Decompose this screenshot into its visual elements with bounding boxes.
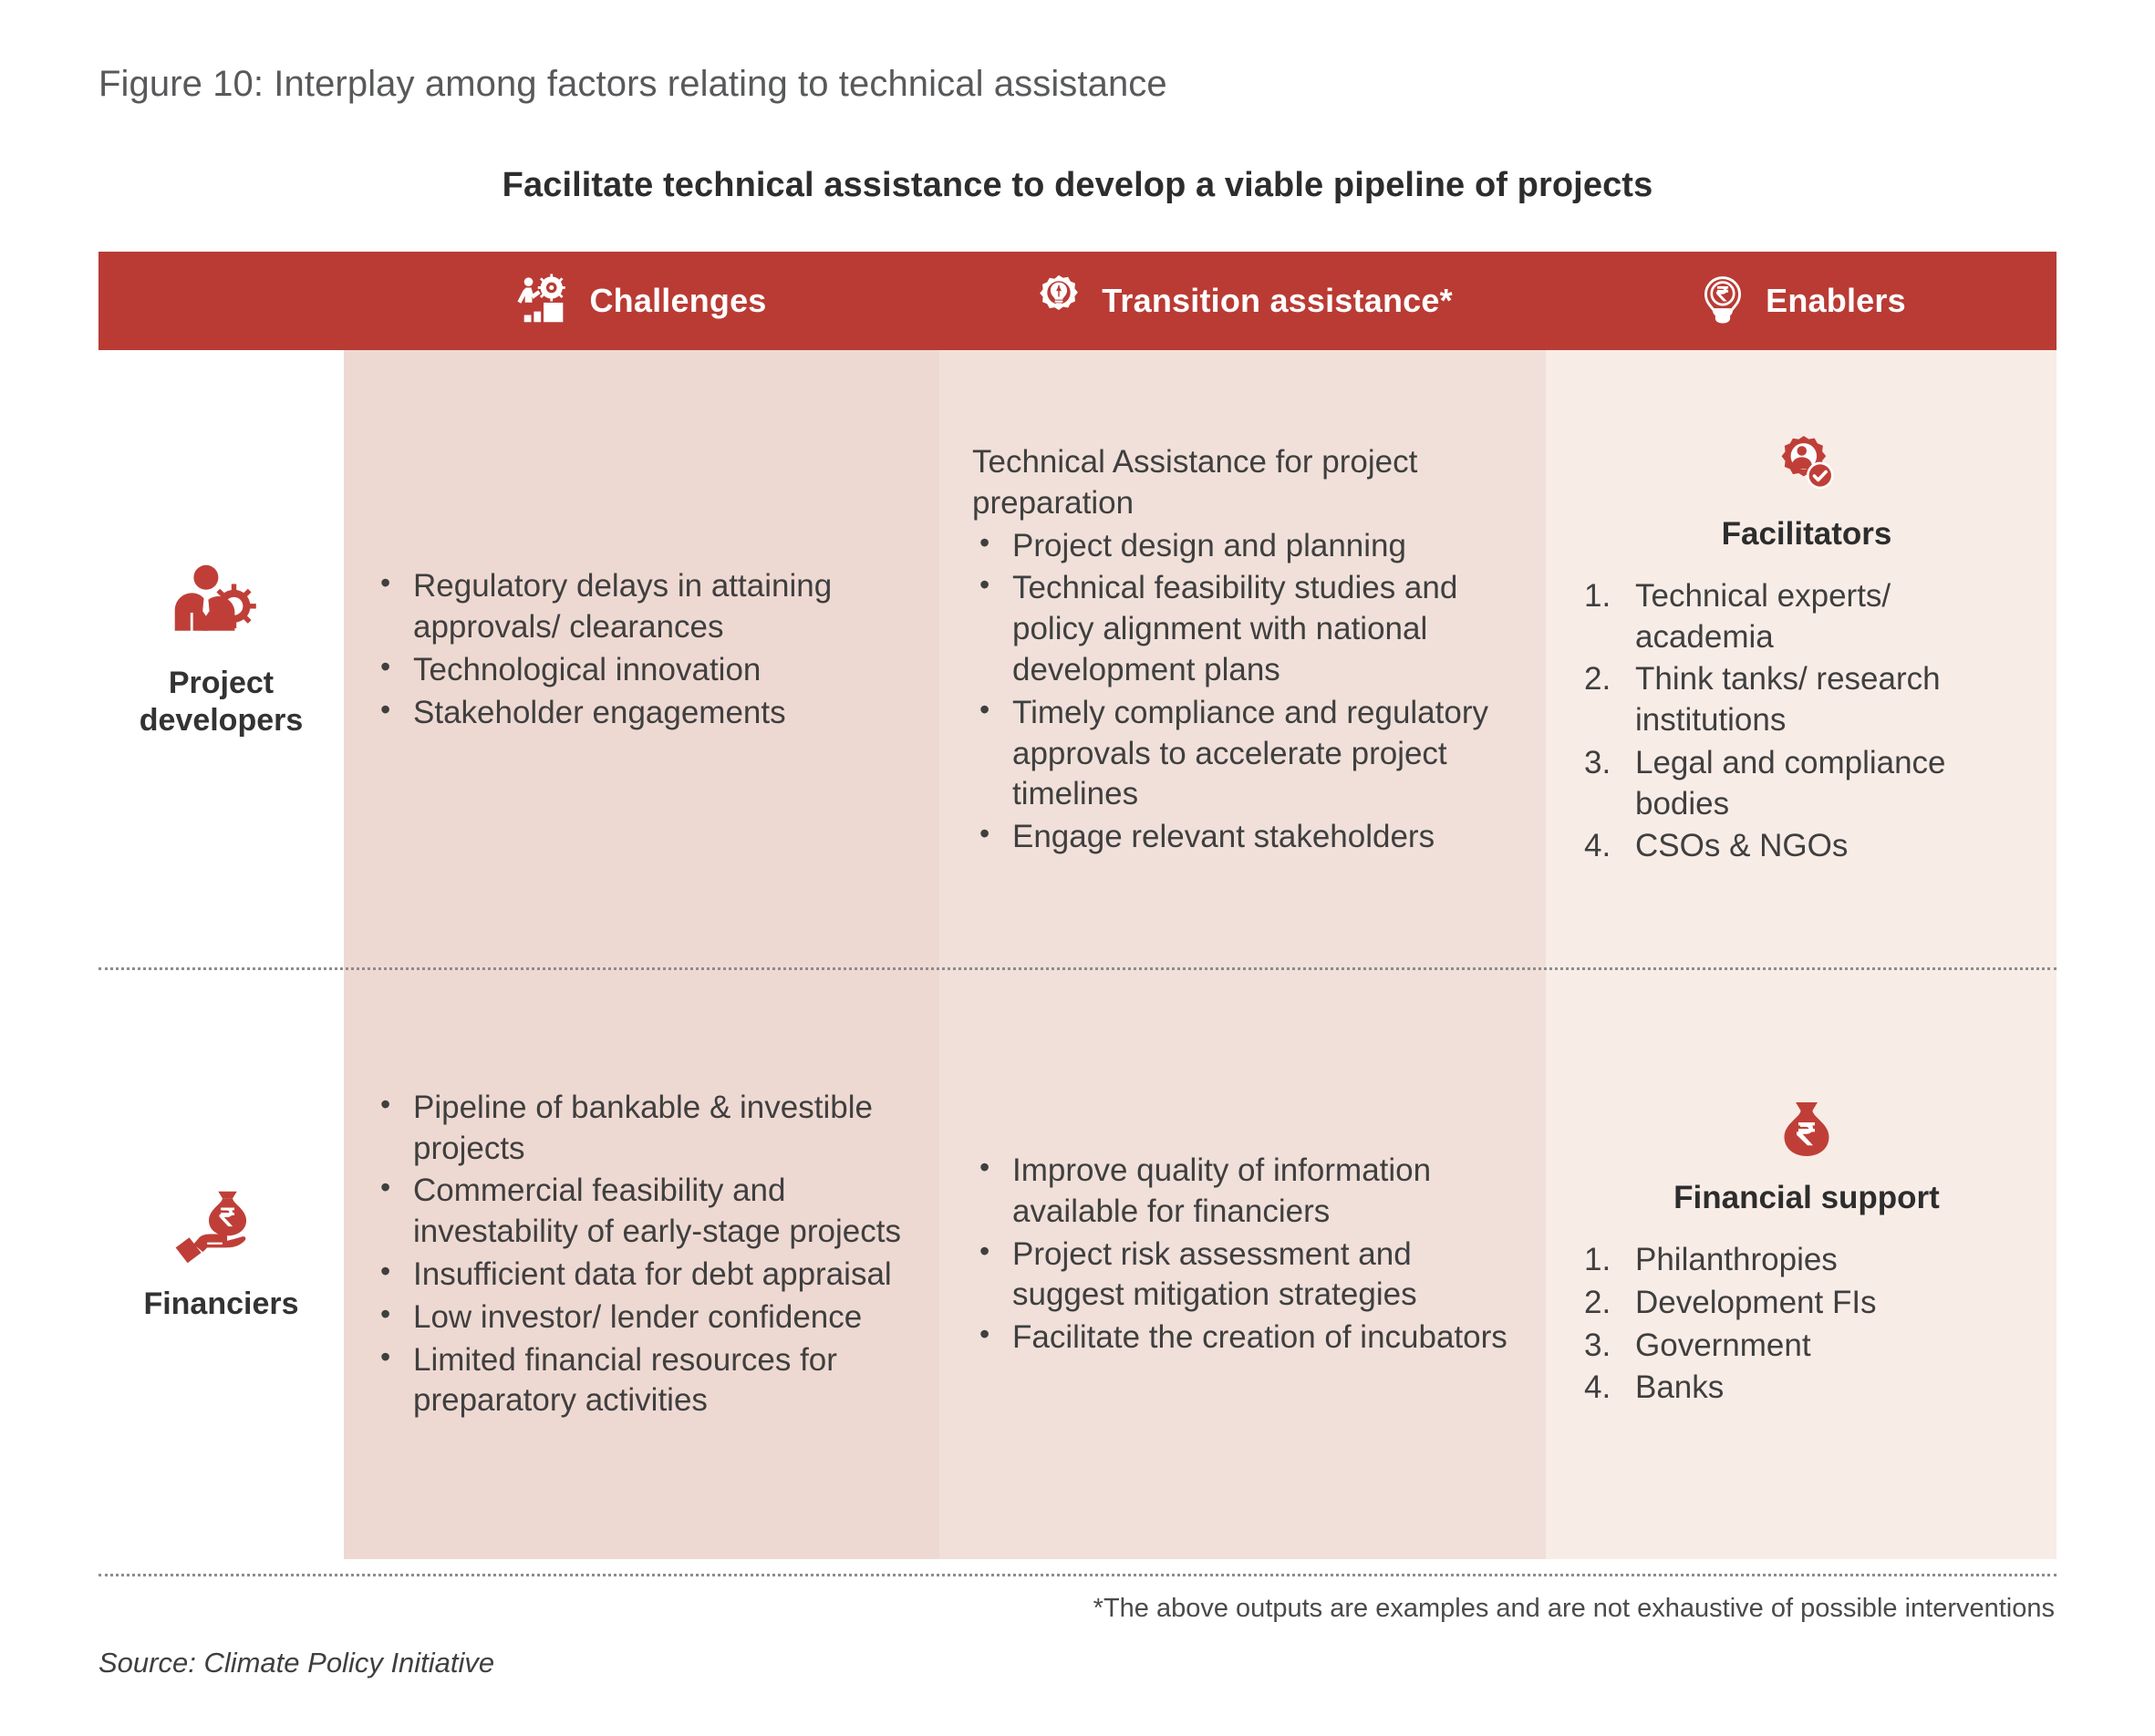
gear-lightbulb-icon [1032, 274, 1085, 327]
gear-person-check-icon [1584, 433, 2029, 507]
list-item: Regulatory delays in attaining approvals… [373, 566, 912, 648]
footnote: *The above outputs are examples and are … [1093, 1594, 2055, 1624]
cell-challenges-project-developers: Regulatory delays in attaining approvals… [344, 350, 939, 952]
bottom-divider [98, 1574, 2057, 1576]
list-item: Facilitate the creation of incubators [972, 1317, 1509, 1359]
list-item: Insufficient data for debt appraisal [373, 1255, 912, 1296]
list-item: Technical experts/ academia [1584, 576, 2029, 658]
row-label-text: Projectdevelopers [140, 665, 304, 738]
row-divider [98, 967, 2057, 970]
row-label-project-developers: Projectdevelopers [98, 350, 344, 952]
list-item: Think tanks/ research institutions [1584, 659, 2029, 741]
row-label-financiers: Financiers [98, 952, 344, 1559]
enabler-heading-financial-support: Financial support [1584, 1100, 2029, 1216]
money-bag-rupee-icon [1584, 1100, 2029, 1171]
cell-enablers-financiers: Financial support Philanthropies Develop… [1546, 952, 2057, 1559]
header-cell-challenges: Challenges [344, 252, 939, 350]
header-label-enablers: Enablers [1766, 282, 1906, 320]
row-label-text: Financiers [143, 1286, 298, 1322]
cell-transition-project-developers: Technical Assistance for project prepara… [939, 350, 1546, 952]
header-label-challenges: Challenges [589, 282, 766, 320]
challenges-list: Regulatory delays in attaining approvals… [373, 566, 912, 735]
enabler-title: Facilitators [1584, 516, 2029, 553]
list-item: Technical feasibility studies and policy… [972, 568, 1509, 690]
cell-challenges-financiers: Pipeline of bankable & investible projec… [344, 952, 939, 1559]
list-item: Low investor/ lender confidence [373, 1297, 912, 1338]
list-item: Development FIs [1584, 1283, 2029, 1324]
row-label-line2: developers [140, 703, 304, 738]
lightbulb-rupee-icon [1696, 274, 1749, 327]
list-item: Government [1584, 1326, 2029, 1367]
figure-caption: Figure 10: Interplay among factors relat… [98, 64, 1167, 105]
header-cell-transition-assistance: Transition assistance* [939, 252, 1546, 350]
matrix-body: Projectdevelopers Regulatory delays in a… [98, 350, 2057, 1559]
challenges-list: Pipeline of bankable & investible projec… [373, 1088, 912, 1423]
cell-transition-financiers: Improve quality of information available… [939, 952, 1546, 1559]
list-item: Engage relevant stakeholders [972, 817, 1509, 858]
list-item: Limited financial resources for preparat… [373, 1340, 912, 1422]
transition-list: Improve quality of information available… [972, 1151, 1509, 1360]
list-item: CSOs & NGOs [1584, 826, 2029, 867]
list-item: Timely compliance and regulatory approva… [972, 693, 1509, 815]
list-item: Banks [1584, 1368, 2029, 1409]
interplay-matrix: Challenges [98, 252, 2057, 1559]
hand-money-bag-rupee-icon [171, 1188, 273, 1271]
enablers-list: Philanthropies Development FIs Governmen… [1584, 1240, 2029, 1410]
list-item: Philanthropies [1584, 1240, 2029, 1281]
list-item: Legal and compliance bodies [1584, 743, 2029, 825]
list-item: Stakeholder engagements [373, 693, 912, 734]
header-corner-cell [98, 252, 344, 350]
list-item: Project design and planning [972, 526, 1509, 567]
page-title: Facilitate technical assistance to devel… [0, 166, 2155, 205]
row-label-line1: Project [169, 666, 274, 700]
source-note: Source: Climate Policy Initiative [98, 1647, 494, 1679]
matrix-header-row: Challenges [98, 252, 2057, 350]
transition-lead-text: Technical Assistance for project prepara… [972, 442, 1509, 524]
person-gear-chart-icon [516, 273, 573, 329]
table-row: Financiers Pipeline of bankable & invest… [98, 952, 2057, 1559]
list-item: Pipeline of bankable & investible projec… [373, 1088, 912, 1170]
header-label-transition-assistance: Transition assistance* [1102, 282, 1453, 320]
list-item: Technological innovation [373, 650, 912, 691]
list-item: Improve quality of information available… [972, 1151, 1509, 1233]
list-item: Project risk assessment and suggest miti… [972, 1235, 1509, 1317]
enablers-list: Technical experts/ academia Think tanks/… [1584, 576, 2029, 870]
enabler-heading-facilitators: Facilitators [1584, 433, 2029, 553]
enabler-title: Financial support [1584, 1180, 2029, 1216]
header-cell-enablers: Enablers [1546, 252, 2057, 350]
table-row: Projectdevelopers Regulatory delays in a… [98, 350, 2057, 952]
transition-list: Project design and planning Technical fe… [972, 526, 1509, 860]
list-item: Commercial feasibility and investability… [373, 1171, 912, 1253]
person-tie-gear-icon [172, 563, 271, 650]
cell-enablers-project-developers: Facilitators Technical experts/ academia… [1546, 350, 2057, 952]
